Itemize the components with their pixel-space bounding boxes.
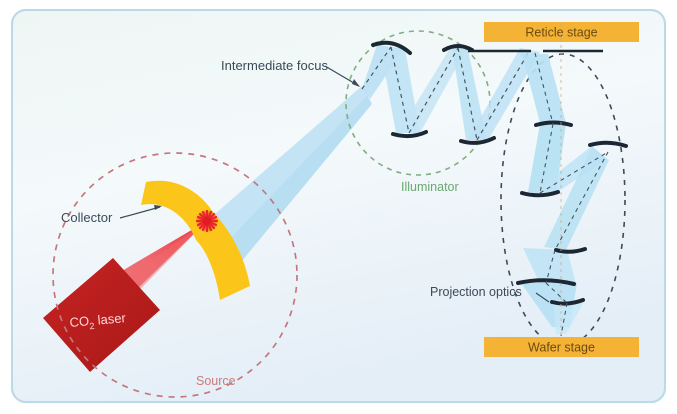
euv-lithography-diagram: CO2 laser <box>0 0 677 414</box>
wafer-stage[interactable]: Wafer stage <box>484 337 639 357</box>
projection-optics-label: Projection optics <box>430 285 522 299</box>
co2-laser-label-text: CO <box>69 313 90 330</box>
collector-label: Collector <box>61 210 113 225</box>
reticle-stage-label: Reticle stage <box>525 26 597 40</box>
intermediate-focus-label: Intermediate focus <box>221 58 328 73</box>
co2-laser-label-tail: laser <box>93 310 127 328</box>
source-label: Source <box>196 374 236 388</box>
plasma-source-point <box>196 210 218 232</box>
wafer-stage-label: Wafer stage <box>528 341 595 355</box>
diagram-canvas: CO2 laser <box>0 0 677 414</box>
illuminator-label: Illuminator <box>401 180 459 194</box>
